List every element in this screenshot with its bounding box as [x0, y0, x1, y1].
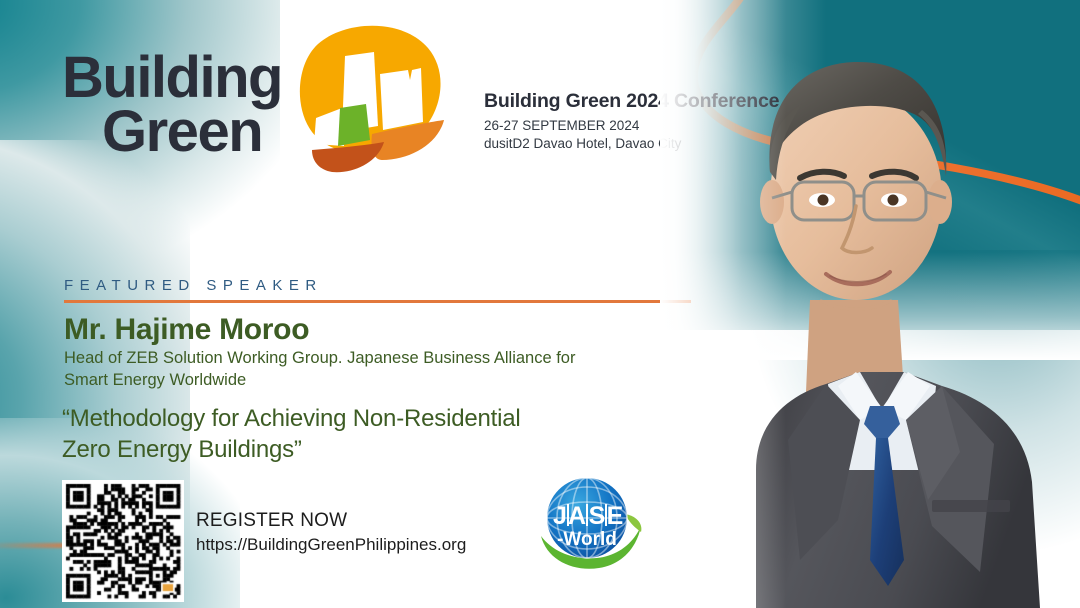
jase-world-subtitle: -World: [557, 529, 617, 550]
svg-text:J: J: [553, 502, 567, 530]
brand-wordmark-line2: Green: [62, 105, 282, 158]
talk-title: “Methodology for Achieving Non-Residenti…: [62, 403, 652, 465]
speaker-role-line2: Smart Energy Worldwide: [64, 370, 664, 392]
brand-wordmark: Building Green: [62, 51, 282, 158]
brand-logo: Building Green: [62, 22, 450, 187]
jase-world-logo-icon: J A S E -World: [529, 470, 645, 575]
talk-title-line2: Zero Energy Buildings”: [62, 434, 652, 465]
speaker-name: Mr. Hajime Moroo: [64, 313, 309, 347]
speaker-role-line1: Head of ZEB Solution Working Group. Japa…: [64, 348, 664, 370]
conference-promo-poster: Building Green Building Green 2024 Confe…: [0, 0, 1080, 608]
talk-title-line1: “Methodology for Achieving Non-Residenti…: [62, 403, 652, 434]
svg-text:S: S: [589, 502, 606, 530]
svg-text:A: A: [568, 502, 586, 530]
speaker-role: Head of ZEB Solution Working Group. Japa…: [64, 348, 664, 392]
building-green-mark-icon: [290, 22, 450, 187]
qr-code-icon[interactable]: [62, 480, 184, 602]
registration-url[interactable]: https://BuildingGreenPhilippines.org: [196, 535, 466, 555]
registration-block: REGISTER NOW https://BuildingGreenPhilip…: [196, 510, 466, 555]
featured-speaker-label: FEATURED SPEAKER: [64, 277, 323, 294]
speaker-portrait: [660, 0, 1080, 608]
register-now-label: REGISTER NOW: [196, 510, 466, 532]
svg-text:E: E: [607, 502, 624, 530]
featured-speaker-divider: [64, 300, 691, 303]
